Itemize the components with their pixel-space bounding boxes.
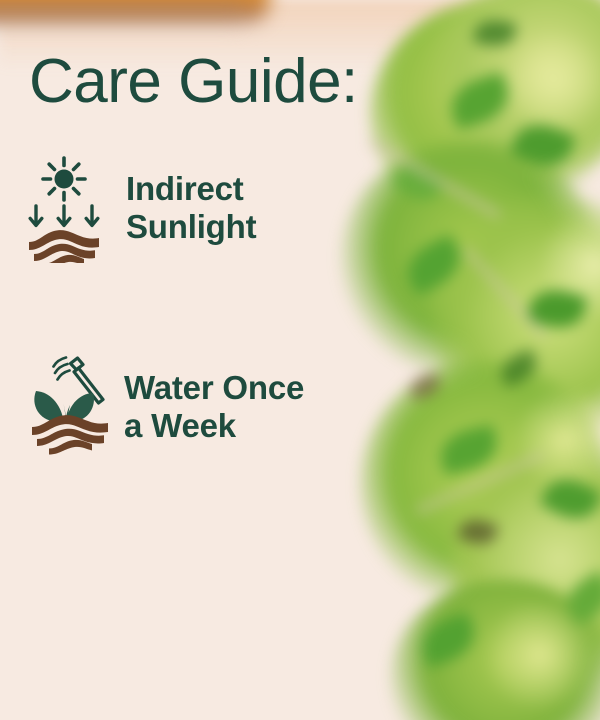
water-droplets-icon <box>54 358 70 380</box>
indirect-sunlight-icon <box>26 153 102 263</box>
water-once-a-week-icon <box>26 352 102 462</box>
care-item-label: Water Once a Week <box>124 369 304 445</box>
down-arrows-icon <box>30 206 98 225</box>
care-item-label: Indirect Sunlight <box>126 170 256 246</box>
soil-waves-icon <box>29 230 99 263</box>
care-item-indirect-sunlight: Indirect Sunlight <box>26 153 256 263</box>
page-title: Care Guide: <box>29 47 358 117</box>
care-guide-card: Care Guide: <box>0 0 600 720</box>
care-guide-content: Care Guide: <box>0 0 600 720</box>
care-item-water-once-a-week: Water Once a Week <box>26 352 304 462</box>
sun-icon <box>43 158 85 200</box>
soil-waves-icon <box>32 415 108 454</box>
